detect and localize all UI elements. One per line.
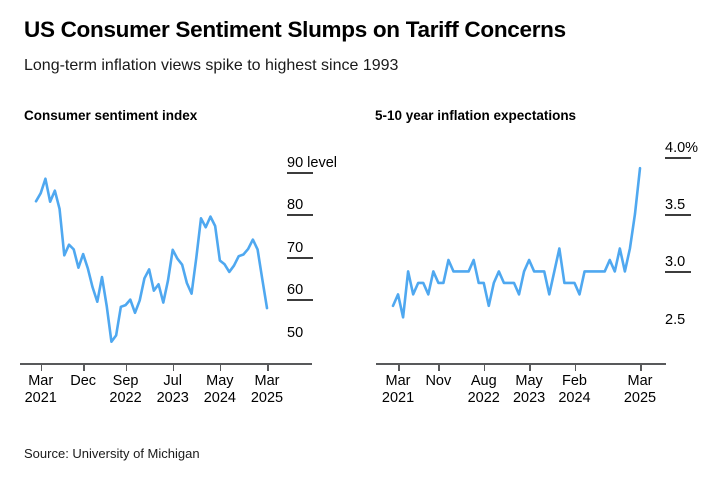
y-axis-label: 3.0 [665,254,685,270]
chart-page: US Consumer Sentiment Slumps on Tariff C… [0,0,706,478]
y-axis-label: 90 level [287,155,337,171]
x-axis-tick [484,365,486,371]
x-axis-tick [640,365,642,371]
series-line-line [360,130,706,410]
data-line [36,179,267,342]
x-axis-tick [267,365,269,371]
x-axis-tick [83,365,85,371]
x-axis-label-year: 2021 [370,390,426,407]
x-axis-label-year: 2025 [239,390,295,407]
chart-title-inflation-expectations: 5-10 year inflation expectations [375,108,576,123]
y-axis-tick-dash [287,299,313,301]
x-axis-label: Mar2025 [239,373,295,407]
x-axis-tick [529,365,531,371]
data-line [393,168,640,317]
x-axis-label-month: Feb [546,373,602,390]
x-axis-label-month: Mar [239,373,295,390]
y-axis-label: 60 [287,282,303,298]
y-axis-tick-dash [665,271,691,273]
y-axis-tick-dash [287,257,313,259]
x-axis-tick [173,365,175,371]
x-axis-tick [126,365,128,371]
x-axis-label-year: 2025 [612,390,668,407]
x-axis-tick [438,365,440,371]
chart-inflation-expectations: 4.0%3.53.02.5Mar2021NovAug2022May2023Feb… [360,130,706,410]
page-title: US Consumer Sentiment Slumps on Tariff C… [24,16,566,44]
y-axis-label: 50 [287,325,303,341]
y-axis-tick-dash [287,214,313,216]
y-axis-label: 70 [287,240,303,256]
y-axis-tick-dash [665,157,691,159]
y-axis-tick-dash [665,214,691,216]
x-axis-tick [575,365,577,371]
x-axis-label-year: 2021 [13,390,69,407]
x-axis-label: Feb2024 [546,373,602,407]
y-axis-label: 80 [287,197,303,213]
x-axis-label: Mar2025 [612,373,668,407]
x-axis-line [376,363,666,365]
chart-consumer-sentiment: 90 level80706050Mar2021DecSep2022Jul2023… [0,130,340,410]
x-axis-tick [220,365,222,371]
x-axis-tick [398,365,400,371]
y-axis-label: 3.5 [665,197,685,213]
y-axis-label: 2.5 [665,312,685,328]
y-axis-tick-dash [287,172,313,174]
source-note: Source: University of Michigan [24,446,200,461]
y-axis-label: 4.0% [665,140,698,156]
chart-title-consumer-sentiment: Consumer sentiment index [24,108,197,123]
page-subtitle: Long-term inflation views spike to highe… [24,55,398,77]
x-axis-label-year: 2024 [546,390,602,407]
x-axis-tick [41,365,43,371]
x-axis-label-month: Mar [612,373,668,390]
